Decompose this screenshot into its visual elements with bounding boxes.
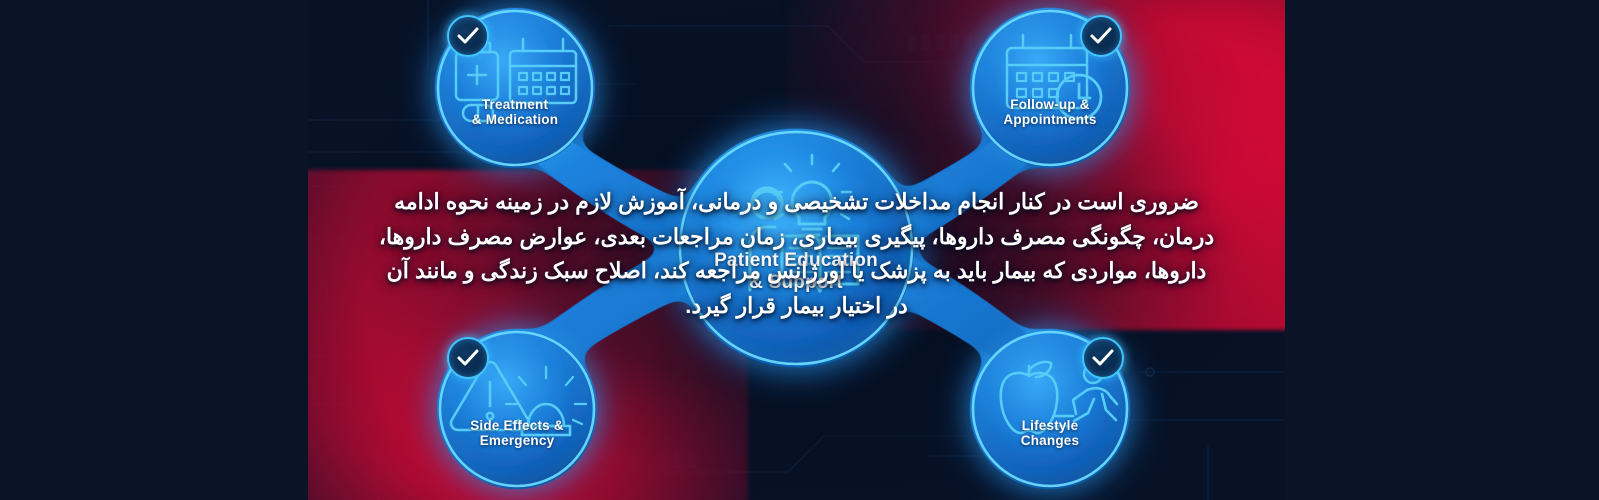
check-icon: [456, 347, 480, 369]
label-line2: Changes: [971, 433, 1129, 448]
check-badge-follow-up-appointments[interactable]: [1080, 15, 1122, 57]
node-label-follow-up-appointments: Follow-up & Appointments: [971, 97, 1129, 127]
person-with-book-and-lightbulb-icon: [678, 130, 914, 366]
node-label-lifestyle-changes: Lifestyle Changes: [971, 418, 1129, 448]
check-badge-treatment-medication[interactable]: [447, 15, 489, 57]
label-line1: Follow-up &: [971, 97, 1129, 112]
check-icon: [456, 25, 480, 47]
node-treatment-medication[interactable]: Treatment & Medication: [436, 9, 594, 167]
hub-node-label: Patient Education & Support: [678, 250, 914, 295]
check-badge-side-effects-emergency[interactable]: [447, 337, 489, 379]
infographic-stage: Patient Education & Support: [0, 0, 1599, 500]
check-icon: [1089, 25, 1113, 47]
hub-node-patient-education-support[interactable]: Patient Education & Support: [678, 130, 914, 366]
node-follow-up-appointments[interactable]: Follow-up & Appointments: [971, 9, 1129, 167]
label-line1: Lifestyle: [971, 418, 1129, 433]
node-side-effects-emergency[interactable]: Side Effects & Emergency: [438, 330, 596, 488]
label-line2: Appointments: [971, 112, 1129, 127]
label-line2: Emergency: [438, 433, 596, 448]
label-line1: Treatment: [436, 97, 594, 112]
label-line2: & Medication: [436, 112, 594, 127]
node-label-treatment-medication: Treatment & Medication: [436, 97, 594, 127]
left-filler-bar: [0, 0, 308, 500]
check-icon: [1091, 347, 1115, 369]
hub-label-line1: Patient Education: [678, 250, 914, 272]
artwork-canvas: Patient Education & Support: [308, 0, 1285, 500]
hub-label-line2: & Support: [678, 272, 914, 294]
right-filler-bar: [1285, 0, 1599, 500]
label-line1: Side Effects &: [438, 418, 596, 433]
node-lifestyle-changes[interactable]: Lifestyle Changes: [971, 330, 1129, 488]
node-label-side-effects-emergency: Side Effects & Emergency: [438, 418, 596, 448]
check-badge-lifestyle-changes[interactable]: [1082, 337, 1124, 379]
